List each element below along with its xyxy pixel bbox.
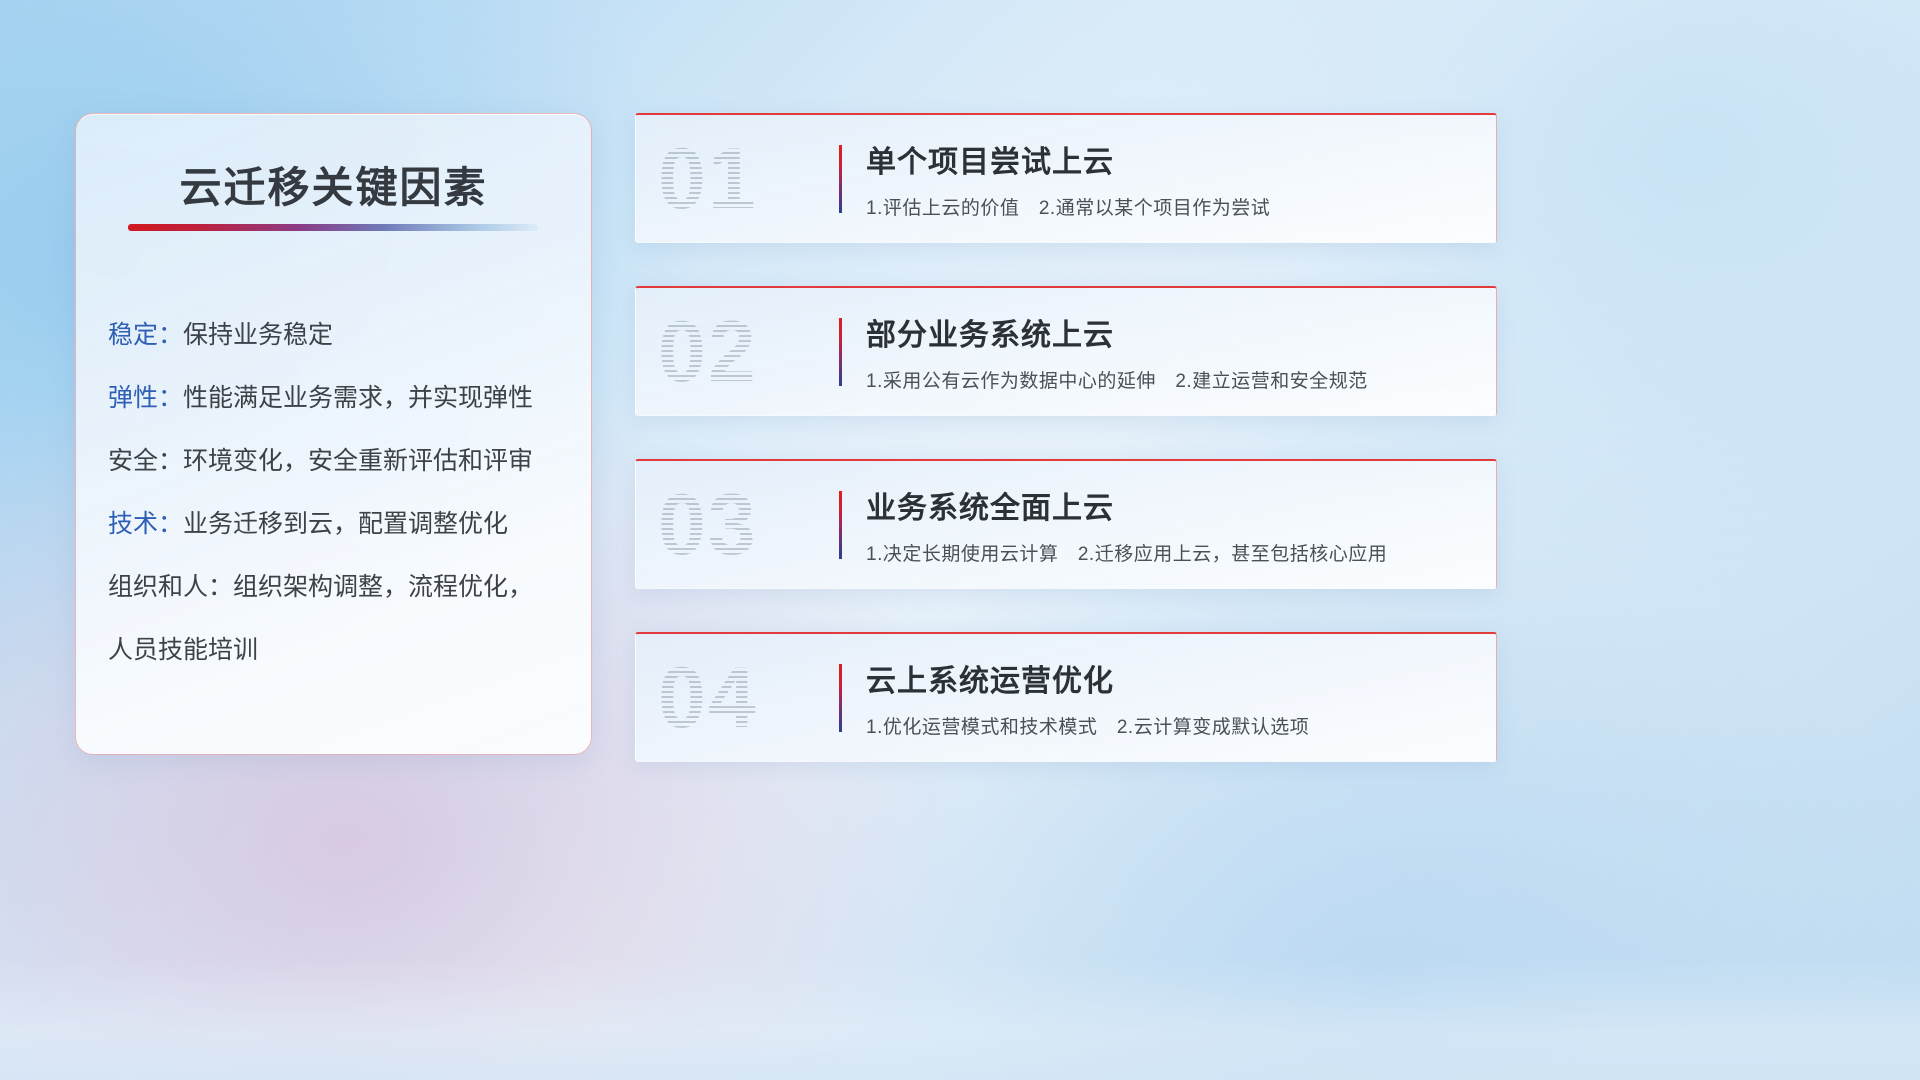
stage-title: 云上系统运营优化	[866, 656, 1476, 700]
stage-number-watermark: 03	[658, 473, 838, 578]
factor-row-stability: 稳定：保持业务稳定	[108, 304, 567, 367]
factor-row-organization: 组织和人：组织架构调整，流程优化，	[108, 556, 567, 619]
factor-label: 技术：	[108, 510, 183, 538]
factor-label: 安全：	[108, 447, 183, 475]
factor-list: 稳定：保持业务稳定 弹性：性能满足业务需求，并实现弹性 安全：环境变化，安全重新…	[108, 304, 567, 682]
stage-divider-bar	[839, 318, 842, 386]
page-title: 云迁移关键因素	[76, 154, 591, 215]
stage-divider-bar	[839, 491, 842, 559]
factor-text: 环境变化，安全重新评估和评审	[183, 447, 533, 475]
key-factors-panel: 云迁移关键因素 稳定：保持业务稳定 弹性：性能满足业务需求，并实现弹性 安全：环…	[75, 113, 592, 755]
stage-number-watermark: 01	[658, 127, 838, 232]
stage-card-body: 部分业务系统上云 1.采用公有云作为数据中心的延伸 2.建立运营和安全规范	[866, 310, 1476, 393]
slide-canvas: 云迁移关键因素 稳定：保持业务稳定 弹性：性能满足业务需求，并实现弹性 安全：环…	[0, 0, 1920, 1080]
factor-text: 业务迁移到云，配置调整优化	[183, 510, 508, 538]
stage-subtitle: 1.评估上云的价值 2.通常以某个项目作为尝试	[866, 193, 1476, 220]
stage-title: 部分业务系统上云	[866, 310, 1476, 354]
stage-card-body: 单个项目尝试上云 1.评估上云的价值 2.通常以某个项目作为尝试	[866, 137, 1476, 220]
stage-card-01[interactable]: 01 单个项目尝试上云 1.评估上云的价值 2.通常以某个项目作为尝试	[635, 113, 1497, 243]
stage-title: 单个项目尝试上云	[866, 137, 1476, 181]
stage-title: 业务系统全面上云	[866, 483, 1476, 527]
stage-subtitle: 1.决定长期使用云计算 2.迁移应用上云，甚至包括核心应用	[866, 539, 1476, 566]
stage-subtitle: 1.采用公有云作为数据中心的延伸 2.建立运营和安全规范	[866, 366, 1476, 393]
stage-card-03[interactable]: 03 业务系统全面上云 1.决定长期使用云计算 2.迁移应用上云，甚至包括核心应…	[635, 459, 1497, 589]
factor-text: 人员技能培训	[108, 636, 258, 664]
factor-label: 弹性：	[108, 384, 183, 412]
stage-divider-bar	[839, 664, 842, 732]
stage-card-body: 业务系统全面上云 1.决定长期使用云计算 2.迁移应用上云，甚至包括核心应用	[866, 483, 1476, 566]
factor-text: 保持业务稳定	[183, 321, 333, 349]
factor-row-elasticity: 弹性：性能满足业务需求，并实现弹性	[108, 367, 567, 430]
stage-divider-bar	[839, 145, 842, 213]
factor-label: 组织和人：	[108, 573, 233, 601]
stage-number-watermark: 02	[658, 300, 838, 405]
factor-text: 性能满足业务需求，并实现弹性	[183, 384, 533, 412]
stage-card-04[interactable]: 04 云上系统运营优化 1.优化运营模式和技术模式 2.云计算变成默认选项	[635, 632, 1497, 762]
factor-text: 组织架构调整，流程优化，	[233, 573, 533, 601]
stage-number-watermark: 04	[658, 646, 838, 751]
stage-card-02[interactable]: 02 部分业务系统上云 1.采用公有云作为数据中心的延伸 2.建立运营和安全规范	[635, 286, 1497, 416]
stage-card-list: 01 单个项目尝试上云 1.评估上云的价值 2.通常以某个项目作为尝试 02 部…	[635, 113, 1497, 762]
factor-row-technology: 技术：业务迁移到云，配置调整优化	[108, 493, 567, 556]
stage-card-body: 云上系统运营优化 1.优化运营模式和技术模式 2.云计算变成默认选项	[866, 656, 1476, 739]
factor-label: 稳定：	[108, 321, 183, 349]
factor-row-security: 安全：环境变化，安全重新评估和评审	[108, 430, 567, 493]
factor-row-organization-cont: 人员技能培训	[108, 619, 567, 682]
title-underline-rule	[128, 224, 538, 231]
stage-subtitle: 1.优化运营模式和技术模式 2.云计算变成默认选项	[866, 712, 1476, 739]
